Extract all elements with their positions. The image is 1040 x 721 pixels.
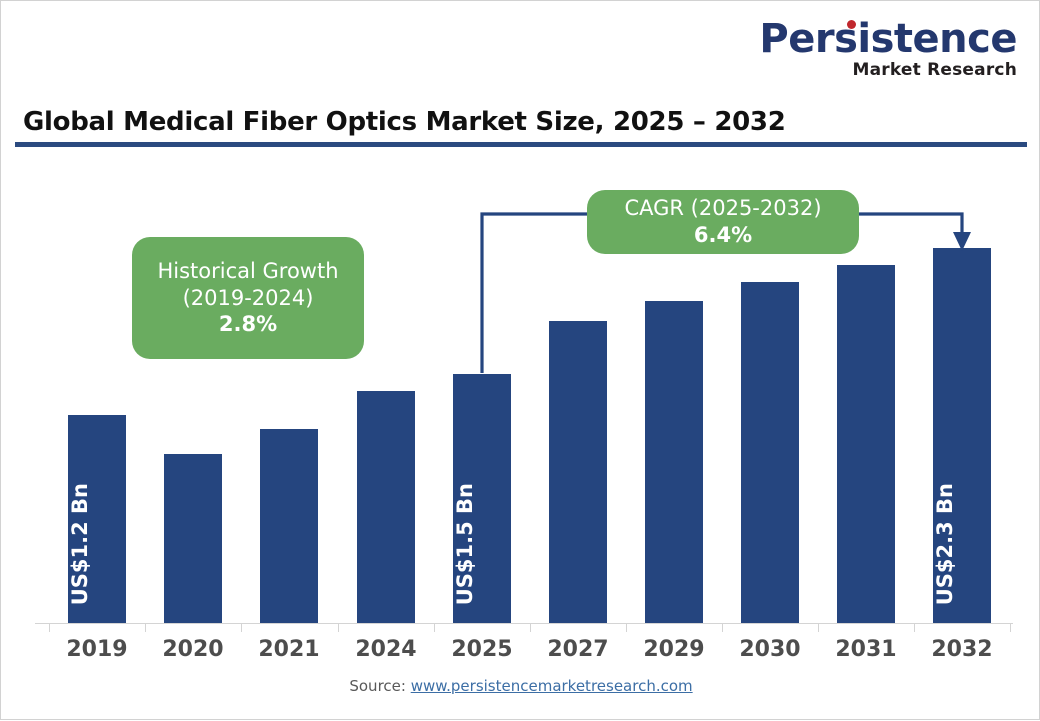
bar-2027 <box>549 321 607 623</box>
callout-historical-line1: Historical Growth <box>157 258 338 285</box>
callout-cagr-value: 6.4% <box>694 222 752 249</box>
bar-2021 <box>260 429 318 623</box>
bar-2019: US$1.2 Bn <box>68 415 126 623</box>
x-axis-label-2021: 2021 <box>241 637 337 662</box>
x-axis-tick <box>434 623 435 632</box>
bar-value-label-2025: US$1.5 Bn <box>453 483 511 605</box>
x-axis-tick <box>1010 623 1011 632</box>
bar-value-label-2032: US$2.3 Bn <box>933 483 991 605</box>
source-label: Source: <box>349 677 410 695</box>
x-axis-label-2030: 2030 <box>722 637 818 662</box>
x-axis-tick <box>338 623 339 632</box>
x-axis-label-2024: 2024 <box>338 637 434 662</box>
x-axis-tick <box>145 623 146 632</box>
bar-2025: US$1.5 Bn <box>453 374 511 623</box>
x-axis-label-2032: 2032 <box>914 637 1010 662</box>
x-axis-tick <box>818 623 819 632</box>
source-link[interactable]: www.persistencemarketresearch.com <box>411 677 693 695</box>
x-axis-tick <box>49 623 50 632</box>
bar-2030 <box>741 282 799 623</box>
callout-cagr-line1: CAGR (2025-2032) <box>624 195 821 222</box>
bar-value-label-2019: US$1.2 Bn <box>68 483 126 605</box>
x-axis-baseline <box>35 623 1013 624</box>
x-axis-label-2029: 2029 <box>626 637 722 662</box>
callout-historical-line2: (2019-2024) <box>183 285 314 312</box>
source-footer: Source: www.persistencemarketresearch.co… <box>1 677 1040 695</box>
x-axis-label-2025: 2025 <box>434 637 530 662</box>
x-axis-tick <box>914 623 915 632</box>
x-axis-label-2027: 2027 <box>530 637 626 662</box>
x-axis-tick <box>530 623 531 632</box>
callout-historical-value: 2.8% <box>219 311 277 338</box>
bar-2024 <box>357 391 415 623</box>
x-axis-tick <box>722 623 723 632</box>
bar-2020 <box>164 454 222 623</box>
x-axis-label-2031: 2031 <box>818 637 914 662</box>
x-axis-label-2019: 2019 <box>49 637 145 662</box>
bar-2032: US$2.3 Bn <box>933 248 991 623</box>
chart-page: Persistence Market Research Global Medic… <box>0 0 1040 720</box>
bar-2029 <box>645 301 703 623</box>
x-axis-tick <box>241 623 242 632</box>
callout-historical-growth: Historical Growth (2019-2024) 2.8% <box>132 237 364 359</box>
x-axis-label-2020: 2020 <box>145 637 241 662</box>
chart-plot-area: US$1.2 BnUS$1.5 BnUS$2.3 Bn 201920202021… <box>1 1 1040 721</box>
x-axis-tick <box>626 623 627 632</box>
callout-cagr: CAGR (2025-2032) 6.4% <box>587 190 859 254</box>
bar-2031 <box>837 265 895 623</box>
